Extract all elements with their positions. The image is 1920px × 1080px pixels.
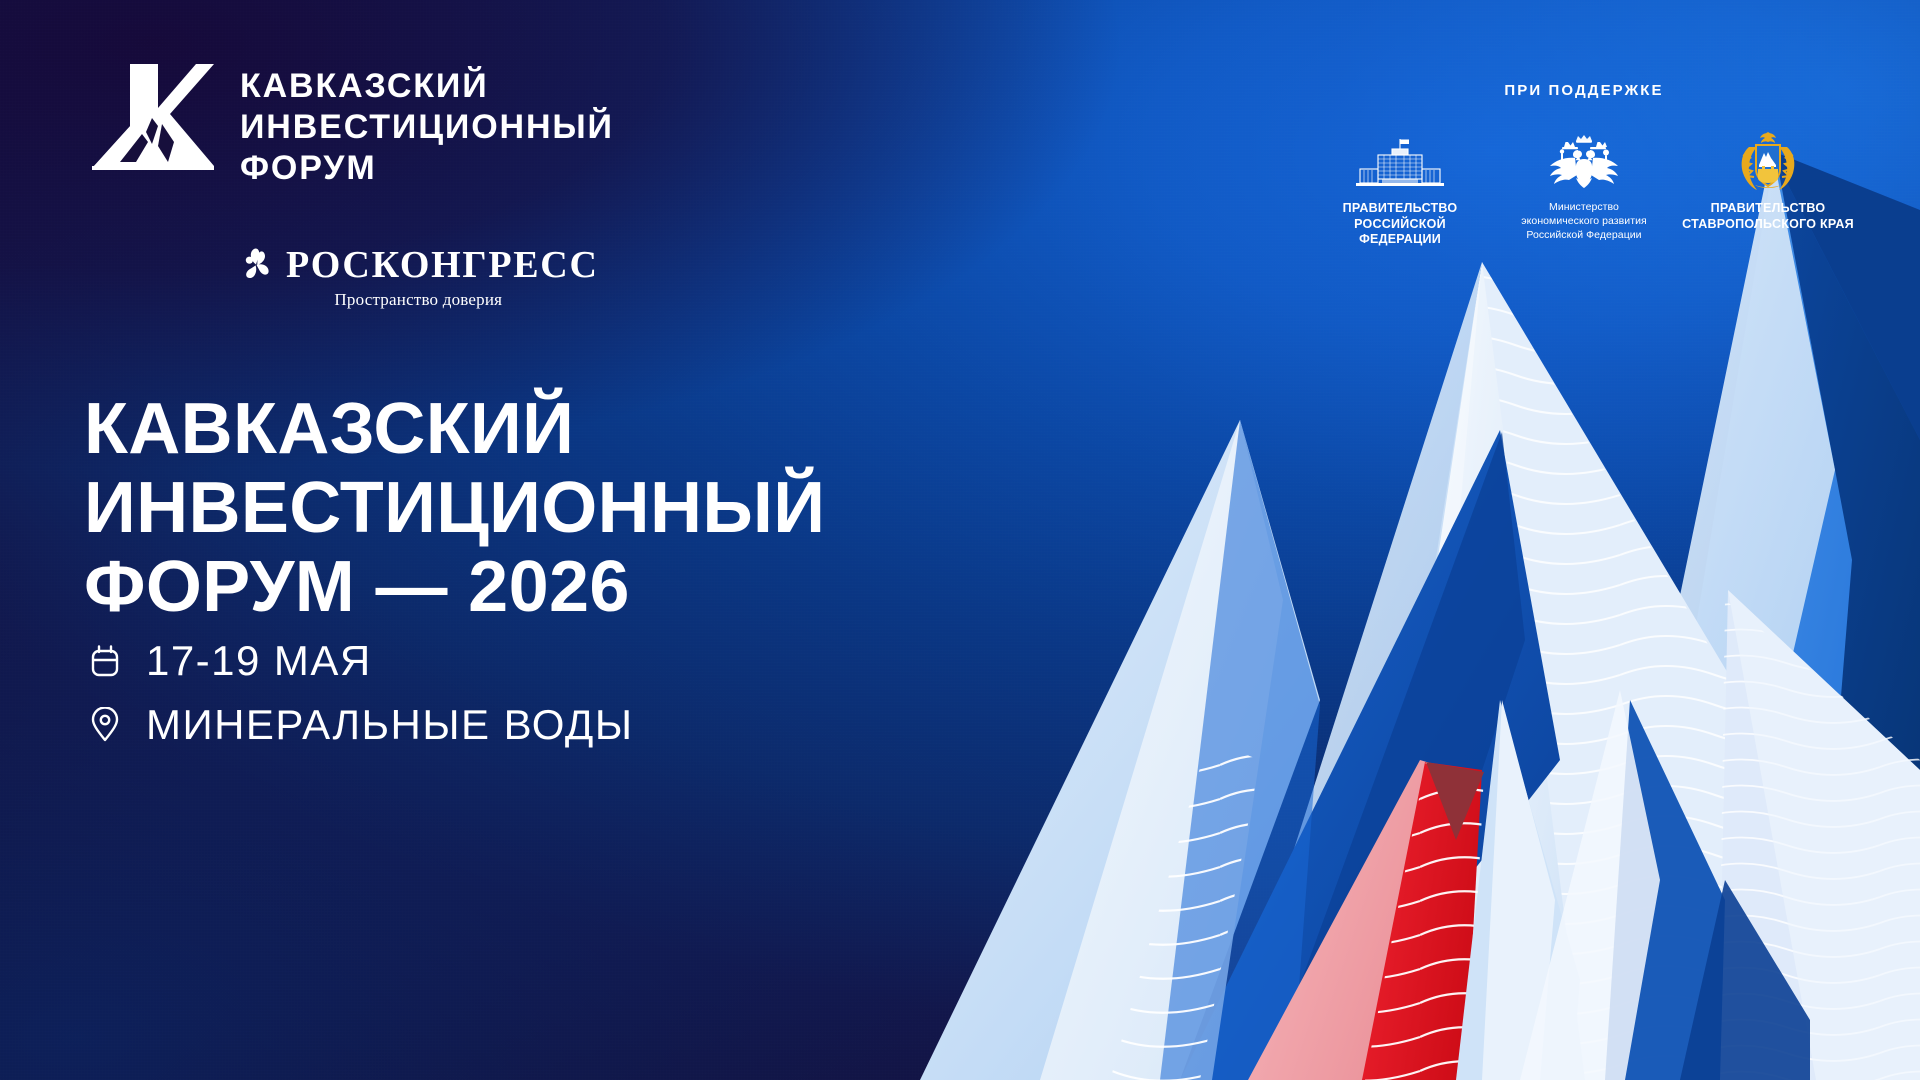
calendar-icon (88, 641, 122, 681)
support-logo-caption: Правительство Ставропольского края (1682, 201, 1854, 232)
map-pin-icon (88, 705, 122, 745)
support-logo-government-rf[interactable]: Правительство Российской Федерации (1314, 129, 1486, 248)
event-date: 17-19 мая (146, 640, 372, 682)
forum-logo-text: Кавказский Инвестиционный Форум (240, 62, 614, 189)
forum-logo-line-1: Кавказский (240, 66, 614, 107)
support-logo-stavropol[interactable]: Правительство Ставропольского края (1682, 129, 1854, 232)
page-title-line-3: Форум — 2026 (84, 548, 825, 627)
support-title: При поддержке (1504, 82, 1663, 99)
support-logo-caption: Министерство экономического развития Рос… (1521, 201, 1647, 243)
poster-canvas: Кавказский Инвестиционный Форум РОСКОНГР… (0, 0, 1920, 1080)
support-logo-minec-rf[interactable]: Министерство экономического развития Рос… (1498, 129, 1670, 243)
support-logo-caption: Правительство Российской Федерации (1343, 201, 1458, 248)
page-title-line-1: Кавказский (84, 390, 825, 469)
double-headed-eagle-icon (1542, 129, 1626, 193)
event-meta: 17-19 мая Минеральные Воды (88, 640, 634, 746)
forum-logo-line-3: Форум (240, 148, 614, 189)
roscongress-tagline: Пространство доверия (334, 290, 502, 310)
forum-logo[interactable]: Кавказский Инвестиционный Форум (92, 62, 614, 189)
event-date-row: 17-19 мая (88, 640, 634, 682)
stavropol-coat-of-arms-icon (1735, 129, 1801, 193)
event-location-row: Минеральные Воды (88, 704, 634, 746)
government-house-icon (1352, 129, 1448, 193)
roscongress-logo[interactable]: РОСКОНГРЕСС Пространство доверия (238, 246, 599, 310)
support-block: При поддержке (1314, 82, 1854, 248)
forum-logo-line-2: Инвестиционный (240, 107, 614, 148)
page-title-line-2: Инвестиционный (84, 469, 825, 548)
mountain-k-icon (92, 62, 214, 172)
event-location: Минеральные Воды (146, 704, 634, 746)
roscongress-pinwheel-icon (238, 247, 274, 283)
roscongress-wordmark: РОСКОНГРЕСС (286, 246, 599, 284)
page-title: Кавказский Инвестиционный Форум — 2026 (84, 390, 825, 628)
